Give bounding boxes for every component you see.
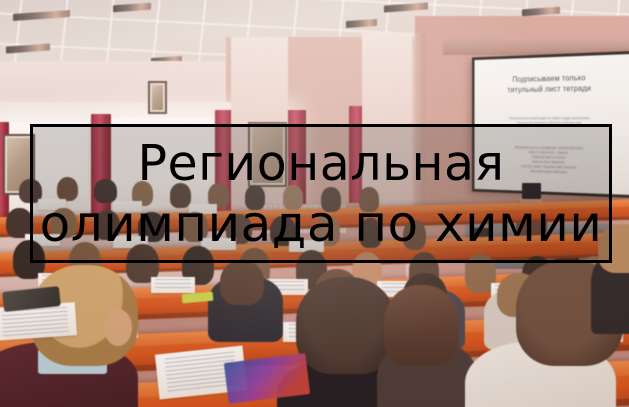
student-head-foreground	[384, 285, 459, 366]
slide-headline: Подписываем только титульный лист тетрад…	[480, 71, 622, 95]
title-overlay-banner: Региональная олимпиада по химии	[30, 124, 612, 263]
screenshot-root: Подписываем только титульный лист тетрад…	[0, 0, 629, 407]
slide-headline-line-2: титульный лист тетради	[480, 82, 622, 95]
framed-picture	[148, 81, 167, 113]
overlay-title-line-1: Региональная	[137, 134, 504, 194]
picture-artwork	[152, 85, 163, 109]
worksheet	[151, 277, 195, 293]
overlay-title-line-2: олимпиада по химии	[40, 194, 603, 254]
student-head	[220, 260, 264, 305]
student-ear	[104, 309, 132, 346]
